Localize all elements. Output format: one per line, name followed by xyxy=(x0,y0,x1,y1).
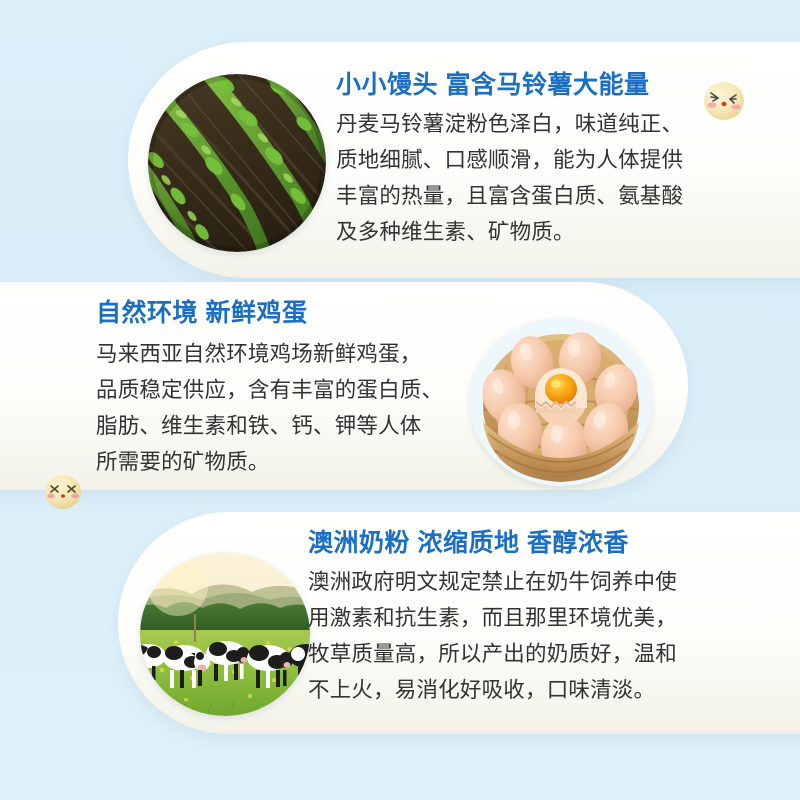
section-body-eggs: 马来西亚自然环境鸡场新鲜鸡蛋， 品质稳定供应，含有丰富的蛋白质、 脂肪、维生素和… xyxy=(96,336,476,480)
section-heading-milk: 澳洲奶粉 浓缩质地 香醇浓香 xyxy=(308,528,708,558)
body-line: 所需要的矿物质。 xyxy=(96,444,476,480)
egg-basket-photo xyxy=(470,318,652,486)
text-block-milk: 澳洲奶粉 浓缩质地 香醇浓香 澳洲政府明文规定禁止在奶牛饲养中使 用激素和抗生素… xyxy=(308,528,708,708)
body-line: 质地细腻、口感顺滑，能为人体提供 xyxy=(336,142,706,178)
section-body-potato: 丹麦马铃薯淀粉色泽白，味道纯正、 质地细腻、口感顺滑，能为人体提供 丰富的热量，… xyxy=(336,106,706,250)
text-block-potato: 小小馒头 富含马铃薯大能量 丹麦马铃薯淀粉色泽白，味道纯正、 质地细腻、口感顺滑… xyxy=(336,70,706,250)
dairy-cows-pasture-photo xyxy=(140,552,310,716)
body-line: 丰富的热量，且富含蛋白质、氨基酸 xyxy=(336,178,706,214)
steamed-bun-mascot-squint-icon xyxy=(43,473,83,511)
promo-page: 小小馒头 富含马铃薯大能量 丹麦马铃薯淀粉色泽白，味道纯正、 质地细腻、口感顺滑… xyxy=(0,0,800,800)
body-line: 品质稳定供应，含有丰富的蛋白质、 xyxy=(96,372,476,408)
body-line: 及多种维生素、矿物质。 xyxy=(336,214,706,250)
body-line: 不上火，易消化好吸收，口味清淡。 xyxy=(308,672,708,708)
potato-field-photo xyxy=(148,74,326,252)
body-line: 用激素和抗生素，而且那里环境优美， xyxy=(308,600,708,636)
section-body-milk: 澳洲政府明文规定禁止在奶牛饲养中使 用激素和抗生素，而且那里环境优美， 牧草质量… xyxy=(308,564,708,708)
body-line: 牧草质量高，所以产出的奶质好，温和 xyxy=(308,636,708,672)
body-line: 脂肪、维生素和铁、钙、钾等人体 xyxy=(96,408,476,444)
body-line: 马来西亚自然环境鸡场新鲜鸡蛋， xyxy=(96,336,476,372)
text-block-eggs: 自然环境 新鲜鸡蛋 马来西亚自然环境鸡场新鲜鸡蛋， 品质稳定供应，含有丰富的蛋白… xyxy=(96,298,476,480)
section-heading-eggs: 自然环境 新鲜鸡蛋 xyxy=(96,298,476,328)
steamed-bun-mascot-happy-icon xyxy=(702,80,746,122)
section-heading-potato: 小小馒头 富含马铃薯大能量 xyxy=(336,70,706,100)
body-line: 丹麦马铃薯淀粉色泽白，味道纯正、 xyxy=(336,106,706,142)
body-line: 澳洲政府明文规定禁止在奶牛饲养中使 xyxy=(308,564,708,600)
